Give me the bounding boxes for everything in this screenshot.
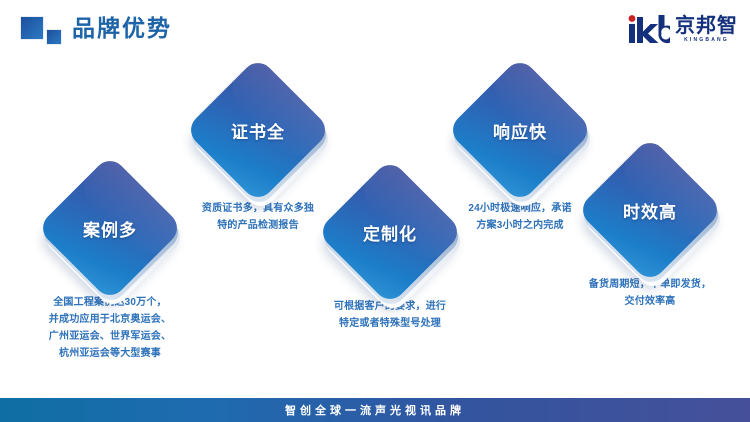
logo-kb-icon [624,14,670,44]
footer-slogan: 智创全球一流声光视讯品牌 [285,402,465,418]
diamond-label-3: 定制化 [338,180,442,284]
header-decor-squares [20,16,66,46]
advantages-stage: 案例多 全国工程案例达30万个， 并成功应用于北京奥运会、 广州亚运会、世界军运… [0,58,750,394]
brand-logo: 京邦智 KINGBANG [624,14,738,44]
logo-text: 京邦智 KINGBANG [675,16,738,43]
advantage-item-5[interactable]: 时效高 备货周期短，下单即发货， 交付效率高 [550,158,750,310]
diamond-label-4: 响应快 [468,78,572,182]
diamond-label-5: 时效高 [598,158,702,262]
diamond-shape-4[interactable]: 响应快 [468,78,572,182]
page-title: 品牌优势 [72,12,172,44]
page-header: 品牌优势 京邦智 KINGBANG [0,0,750,58]
logo-chinese-name: 京邦智 [675,16,738,36]
diamond-label-1: 案例多 [58,176,162,280]
decor-square-small-icon [46,29,62,45]
decor-square-large-icon [20,16,44,40]
diamond-shape-1[interactable]: 案例多 [58,176,162,280]
diamond-shape-3[interactable]: 定制化 [338,180,442,284]
diamond-shape-2[interactable]: 证书全 [206,78,310,182]
logo-pinyin: KINGBANG [684,38,729,43]
page-footer: 智创全球一流声光视讯品牌 [0,398,750,422]
diamond-label-2: 证书全 [206,78,310,182]
diamond-shape-5[interactable]: 时效高 [598,158,702,262]
